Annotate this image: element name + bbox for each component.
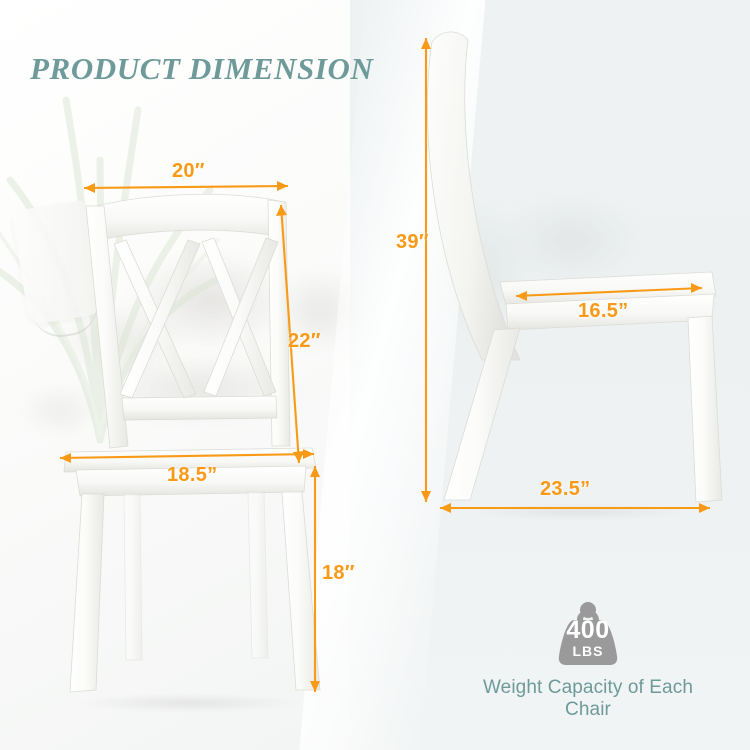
- dimension-label-back-width: 20″: [172, 160, 205, 183]
- front-chair-floor-shadow: [40, 690, 340, 716]
- product-dimension-infographic: PRODUCT DIMENSION: [0, 0, 750, 750]
- dimension-label-back-height: 22″: [288, 330, 321, 353]
- page-title: PRODUCT DIMENSION: [30, 51, 374, 87]
- dimension-label-seat-width: 18.5”: [167, 464, 217, 487]
- weight-icon: 400 LBS: [549, 598, 627, 668]
- dimension-label-total-height: 39″: [396, 231, 429, 254]
- weight-amount: 400: [549, 616, 627, 645]
- side-chair-floor-shadow: [430, 500, 730, 524]
- dimension-label-seat-height: 18″: [322, 562, 355, 585]
- weight-capacity-caption: Weight Capacity of Each Chair: [460, 677, 716, 721]
- dimension-label-seat-depth: 16.5”: [578, 300, 628, 323]
- weight-capacity-badge: 400 LBS Weight Capacity of Each Chair: [460, 598, 716, 721]
- dimension-label-overall-depth: 23.5”: [540, 478, 590, 501]
- weight-unit: LBS: [549, 643, 627, 659]
